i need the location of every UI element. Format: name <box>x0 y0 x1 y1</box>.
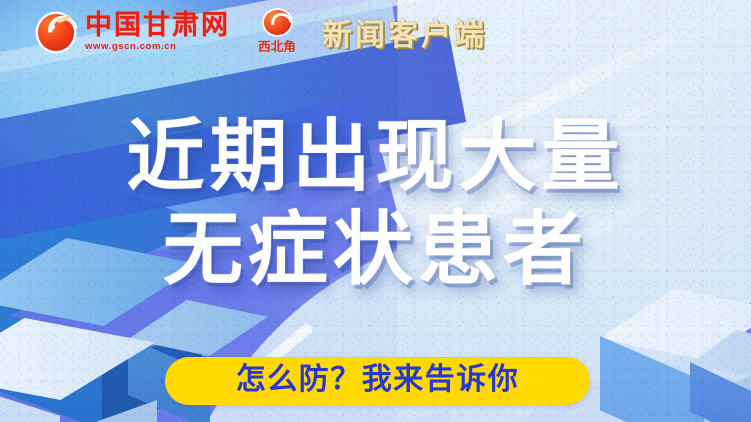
cta-banner[interactable]: 怎么防？我来告诉你 <box>165 357 590 405</box>
app-name-text: 新闻客户端 <box>322 10 487 54</box>
app-badge[interactable]: 西北角 <box>256 9 298 55</box>
site-name: 中国甘肃网 <box>85 12 230 39</box>
gansu-g-swoosh-icon <box>36 11 76 53</box>
logo-eye <box>49 24 55 30</box>
site-logo-text: 中国甘肃网 www.gscn.com.cn <box>85 12 230 52</box>
headline-line-2: 无症状患者 <box>0 210 751 290</box>
headline-line-1: 近期出现大量 <box>0 118 751 196</box>
xibeijiao-g-swoosh-icon <box>264 10 291 35</box>
cta-banner-text: 怎么防？我来告诉你 <box>236 365 520 395</box>
news-poster: 中国甘肃网 www.gscn.com.cn 西北角 新闻客户端 近期出现大量 无… <box>0 0 751 422</box>
site-logo[interactable]: 中国甘肃网 www.gscn.com.cn <box>36 11 230 53</box>
app-badge-label: 西北角 <box>258 36 296 55</box>
poster-header: 中国甘肃网 www.gscn.com.cn 西北角 新闻客户端 <box>0 0 751 64</box>
headline: 近期出现大量 无症状患者 <box>0 118 751 290</box>
site-url: www.gscn.com.cn <box>85 42 230 52</box>
